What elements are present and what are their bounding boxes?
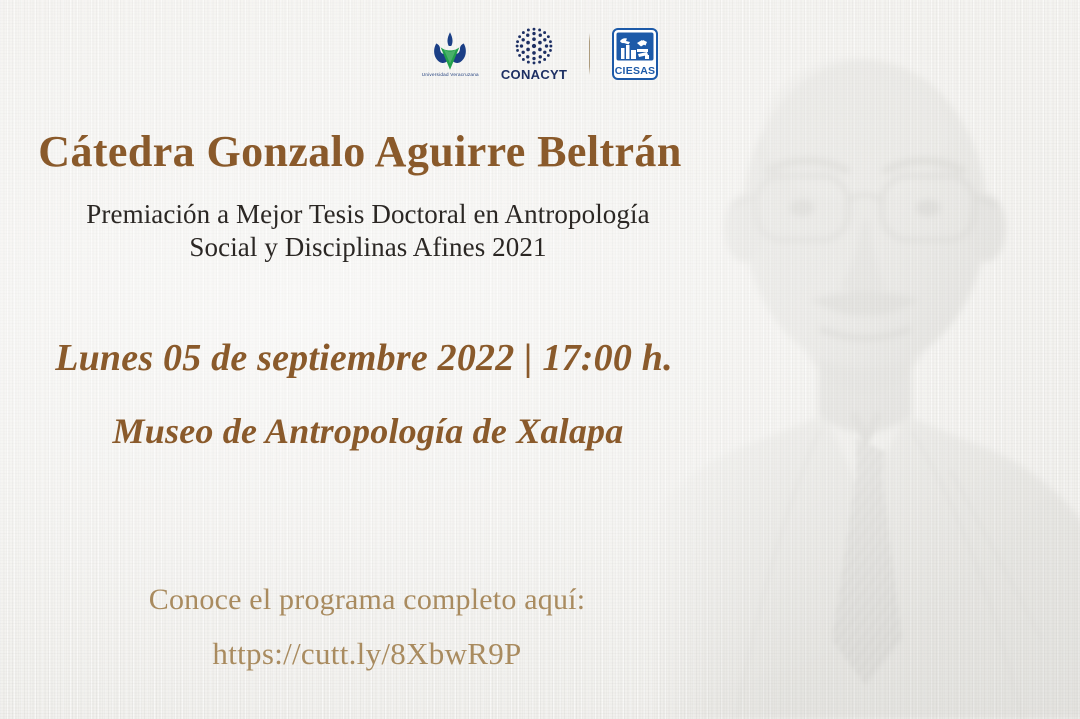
event-venue: Museo de Antropología de Xalapa (0, 410, 736, 452)
program-url-link[interactable]: https://cutt.ly/8XbwR9P (0, 636, 734, 672)
page-title: Cátedra Gonzalo Aguirre Beltrán (0, 126, 720, 177)
program-cta-text: Conoce el programa completo aquí: (0, 583, 734, 617)
page-subtitle: Premiación a Mejor Tesis Doctoral en Ant… (0, 198, 736, 264)
poster-canvas: Universidad Veracruzana (0, 0, 1080, 719)
event-date-time: Lunes 05 de septiembre 2022 | 17:00 h. (0, 336, 728, 380)
poster-content: Cátedra Gonzalo Aguirre Beltrán Premiaci… (0, 0, 1080, 719)
subtitle-line-2: Social y Disciplinas Afines 2021 (0, 231, 736, 264)
subtitle-line-1: Premiación a Mejor Tesis Doctoral en Ant… (0, 198, 736, 231)
